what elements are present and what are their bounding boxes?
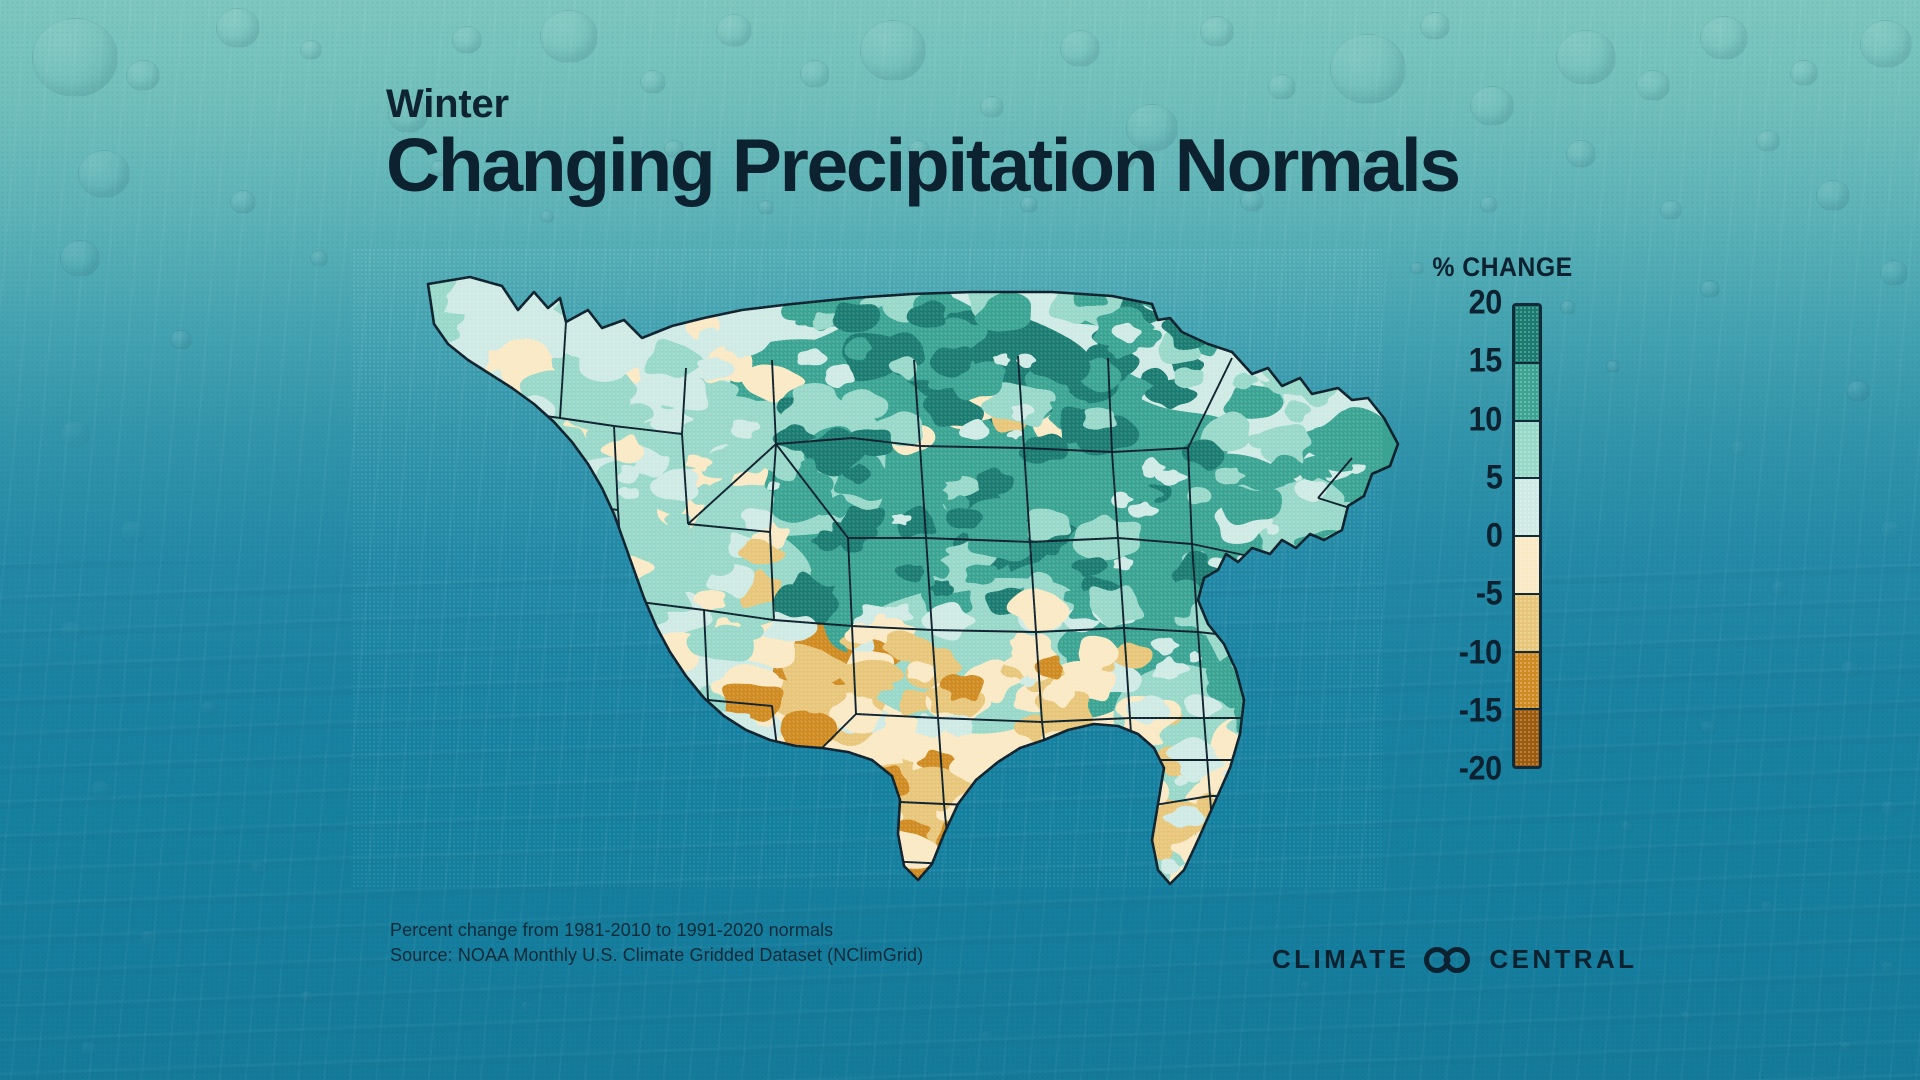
map-value-region: [599, 663, 666, 708]
map-value-region: [625, 705, 682, 741]
legend-tick-20: 20: [1469, 284, 1502, 323]
map-value-region: [429, 397, 478, 427]
map-value-region: [819, 858, 834, 869]
map-value-region: [619, 817, 640, 831]
legend-band-6: [1515, 651, 1539, 709]
map-value-region: [478, 744, 543, 790]
map-value-region: [419, 603, 461, 629]
map-value-region: [1349, 558, 1377, 575]
legend-band-4: [1515, 535, 1539, 593]
map-value-region: [473, 443, 516, 473]
map-value-region: [1287, 795, 1350, 830]
map-value-region: [1326, 668, 1353, 692]
state-border-segment-49: [1264, 796, 1270, 876]
map-value-region: [705, 795, 745, 825]
map-value-region: [516, 471, 569, 512]
map-value-region: [642, 764, 701, 803]
legend-tick-labels: 20151050-5-10-15-20: [1402, 303, 1502, 769]
map-value-region: [508, 735, 555, 774]
map-value-region: [1083, 794, 1117, 816]
map-value-region: [1296, 579, 1353, 618]
map-value-region: [1260, 272, 1314, 304]
map-value-region: [1307, 632, 1337, 655]
map-value-region: [400, 777, 438, 803]
infographic-canvas: Winter Changing Precipitation Normals: [0, 0, 1920, 1080]
map-value-region: [437, 656, 477, 682]
map-value-region: [464, 681, 491, 701]
map-value-region: [721, 279, 750, 298]
map-value-region: [521, 490, 535, 501]
map-value-region: [1284, 826, 1325, 862]
map-value-region: [1313, 550, 1362, 594]
map-value-region: [1347, 526, 1383, 550]
map-value-region: [519, 734, 555, 756]
state-border-segment-41: [1258, 558, 1374, 648]
map-value-region: [1068, 820, 1094, 840]
map-value-region: [805, 770, 841, 790]
map-value-region: [1225, 277, 1276, 311]
map-value-region: [390, 560, 455, 597]
map-value-region: [1196, 826, 1249, 863]
map-value-region: [826, 786, 878, 827]
map-value-region: [619, 831, 654, 855]
map-value-region: [653, 825, 667, 834]
map-value-region: [415, 670, 471, 713]
map-value-region: [405, 591, 570, 717]
map-value-region: [407, 620, 437, 639]
map-value-region: [513, 818, 542, 840]
map-value-region: [1338, 548, 1388, 588]
map-value-region: [537, 679, 564, 699]
map-value-region: [422, 583, 482, 624]
map-value-region: [641, 832, 698, 869]
map-value-region: [827, 843, 891, 886]
map-value-region: [1261, 318, 1316, 350]
map-value-region: [608, 620, 650, 646]
map-value-region: [1218, 841, 1236, 853]
map-value-region: [570, 581, 631, 628]
map-value-region: [1349, 830, 1367, 844]
map-value-region: [419, 767, 465, 805]
map-value-region: [445, 406, 497, 437]
state-border-segment-62: [788, 800, 862, 860]
map-value-region: [745, 826, 805, 873]
map-svg: [352, 248, 1382, 888]
map-value-region: [620, 872, 633, 881]
map-value-region: [763, 801, 796, 830]
legend-band-0: [1515, 306, 1539, 362]
legend-tick-5: 5: [1485, 458, 1502, 497]
map-value-region: [683, 782, 722, 807]
map-value-region: [1223, 864, 1260, 888]
map-value-region: [576, 845, 623, 872]
state-border-segment-61: [712, 788, 788, 848]
map-value-region: [557, 535, 583, 551]
map-value-region: [654, 844, 716, 883]
map-value-region: [1357, 512, 1386, 533]
map-value-region: [533, 501, 571, 524]
map-value-region: [1244, 683, 1319, 727]
map-value-region: [841, 830, 866, 851]
map-value-region: [492, 656, 519, 674]
legend-band-7: [1515, 708, 1539, 766]
map-value-region: [367, 410, 556, 538]
map-value-region: [572, 700, 631, 735]
map-value-region: [451, 785, 477, 803]
map-value-region: [468, 581, 632, 671]
map-value-region: [1314, 699, 1345, 721]
map-value-region: [1000, 760, 1035, 787]
map-value-region: [599, 637, 627, 657]
map-value-region: [835, 826, 891, 870]
map-value-region: [531, 558, 590, 596]
map-value-region: [1260, 573, 1309, 606]
map-value-region: [447, 688, 479, 717]
legend-color-bar[interactable]: [1512, 303, 1542, 769]
map-value-region: [510, 840, 549, 866]
map-value-region: [1324, 542, 1361, 566]
map-value-region: [1259, 346, 1290, 367]
legend: % CHANGE 20151050-5-10-15-20: [1400, 252, 1580, 769]
map-value-region: [1234, 627, 1259, 646]
legend-tick-0: 0: [1485, 517, 1502, 556]
state-border-segment-40: [1258, 638, 1362, 722]
map-value-region: [1202, 831, 1233, 849]
map-value-region: [714, 746, 759, 784]
map-value-region: [1332, 741, 1362, 765]
us-precipitation-choropleth-map[interactable]: [352, 248, 1382, 888]
map-value-region: [560, 600, 622, 644]
map-value-region: [1253, 568, 1300, 601]
map-value-region: [487, 449, 520, 472]
map-value-region: [490, 491, 523, 512]
map-value-region: [1242, 571, 1272, 590]
state-border-segment-20: [944, 804, 1052, 808]
map-value-region: [1275, 639, 1303, 662]
legend-tick-10: 10: [1469, 400, 1502, 439]
map-value-region: [1242, 623, 1286, 650]
map-value-region: [1011, 788, 1071, 828]
map-value-region: [1258, 664, 1310, 697]
map-value-region: [429, 532, 475, 565]
legend-title: % CHANGE: [1414, 252, 1580, 283]
map-value-region: [599, 837, 619, 849]
map-value-region: [1277, 768, 1341, 803]
map-value-region: [690, 817, 728, 842]
map-value-region: [1217, 310, 1231, 321]
map-value-region: [1326, 797, 1371, 828]
map-value-region: [652, 703, 706, 735]
map-value-region: [598, 820, 616, 834]
map-value-region: [726, 828, 738, 835]
state-border-segment-52: [1052, 808, 1058, 876]
state-border-segment-50: [1136, 808, 1142, 878]
legend-band-5: [1515, 593, 1539, 651]
map-value-region: [1253, 312, 1305, 343]
map-value-region: [493, 605, 552, 649]
map-value-region: [421, 456, 462, 485]
map-value-region: [865, 854, 907, 879]
logo-word-climate: CLIMATE: [1272, 944, 1409, 975]
map-value-region: [671, 862, 713, 888]
state-border-segment-38: [1258, 678, 1312, 722]
map-value-region: [592, 654, 620, 670]
map-value-region: [570, 851, 596, 867]
map-value-region: [407, 865, 453, 890]
map-value-region: [1258, 650, 1301, 680]
map-value-region: [418, 608, 461, 636]
map-value-region: [410, 567, 460, 597]
map-value-region: [409, 827, 475, 866]
legend-tick-minus10: -10: [1459, 633, 1502, 672]
climate-central-logo[interactable]: CLIMATE CENTRAL: [1272, 944, 1637, 975]
map-value-region: [1249, 839, 1298, 878]
map-value-region: [471, 825, 510, 855]
map-value-region: [707, 783, 779, 830]
map-value-region: [945, 838, 975, 857]
state-border-segment-58: [522, 588, 564, 718]
map-value-region: [834, 820, 860, 837]
map-value-region: [1302, 537, 1350, 574]
map-value-region: [536, 703, 690, 795]
map-value-region: [532, 551, 572, 576]
legend-band-3: [1515, 477, 1539, 535]
map-value-region: [1258, 570, 1310, 599]
map-value-region: [447, 441, 487, 470]
map-value-region: [404, 556, 459, 589]
map-value-region: [513, 847, 555, 877]
map-value-region: [446, 389, 507, 427]
map-value-region: [681, 288, 699, 301]
map-value-region: [466, 575, 542, 622]
map-value-region: [463, 856, 515, 888]
map-value-region: [507, 452, 543, 470]
map-value-region: [1284, 805, 1334, 838]
map-value-region: [421, 604, 461, 640]
map-value-region: [1300, 718, 1347, 748]
map-value-region: [785, 794, 820, 816]
map-value-region: [560, 542, 601, 578]
map-value-region: [452, 476, 482, 499]
map-value-region: [1011, 749, 1062, 787]
map-value-region: [1269, 784, 1311, 813]
map-value-region: [1247, 679, 1271, 696]
legend-tick-15: 15: [1469, 342, 1502, 381]
map-value-region: [1043, 835, 1097, 882]
map-value-region: [426, 502, 479, 531]
map-value-region: [1281, 590, 1303, 608]
legend-tick-minus20: -20: [1459, 750, 1502, 789]
map-value-region: [1271, 288, 1312, 317]
map-value-region: [1259, 593, 1302, 619]
map-value-region: [765, 799, 793, 817]
map-value-region: [1295, 836, 1330, 864]
map-value-region: [1345, 696, 1378, 718]
map-value-region: [630, 294, 681, 327]
map-value-region: [494, 764, 511, 775]
map-value-region: [476, 497, 626, 605]
map-value-region: [1266, 301, 1293, 319]
map-value-region: [1276, 605, 1291, 614]
map-value-region: [1242, 299, 1265, 314]
state-border-segment-59: [564, 678, 608, 684]
map-value-region: [508, 778, 554, 812]
map-value-region: [1234, 765, 1296, 809]
interlocking-rings-icon: [1423, 946, 1475, 974]
map-value-region: [502, 689, 549, 721]
map-value-region: [546, 671, 590, 697]
map-value-region: [1082, 800, 1119, 825]
state-border-segment-46: [1264, 796, 1318, 868]
map-value-region: [423, 640, 454, 661]
logo-word-central: CENTRAL: [1489, 944, 1637, 975]
map-value-region: [1331, 292, 1368, 320]
map-value-region: [447, 662, 510, 708]
map-value-region: [1320, 683, 1379, 724]
map-value-region: [753, 775, 787, 801]
map-value-region: [527, 478, 567, 511]
map-value-region: [598, 585, 624, 601]
state-border-segment-60: [708, 784, 782, 788]
map-value-region: [1339, 547, 1368, 567]
map-value-region: [1291, 818, 1352, 856]
map-value-region: [418, 612, 469, 638]
map-value-region: [1300, 663, 1332, 683]
map-value-region: [449, 595, 512, 639]
map-value-region: [1225, 319, 1254, 338]
map-value-region: [717, 779, 772, 819]
map-value-region: [1301, 843, 1347, 875]
map-value-region: [487, 660, 540, 700]
map-value-region: [468, 474, 525, 517]
map-value-region: [703, 795, 736, 814]
map-value-region: [1321, 765, 1347, 781]
map-value-region: [531, 446, 560, 464]
map-value-region: [1070, 799, 1129, 839]
state-border-segment-5: [502, 500, 556, 604]
map-value-region: [450, 555, 474, 572]
source-note-line-1: Percent change from 1981-2010 to 1991-20…: [390, 918, 923, 943]
map-value-region: [475, 417, 502, 436]
map-value-region: [857, 795, 903, 822]
map-value-region: [1254, 700, 1286, 716]
map-value-region: [1295, 627, 1356, 664]
state-border-segment-56: [474, 604, 502, 652]
map-value-region: [812, 827, 868, 862]
map-value-region: [951, 812, 1012, 850]
map-value-region: [984, 769, 1018, 791]
map-value-region: [1293, 583, 1335, 613]
map-value-region: [409, 372, 470, 414]
map-value-region: [496, 561, 520, 577]
map-value-region: [606, 634, 654, 662]
map-value-region: [445, 701, 478, 721]
map-value-region: [435, 464, 468, 489]
legend-tick-minus15: -15: [1459, 691, 1502, 730]
legend-band-1: [1515, 362, 1539, 420]
source-note: Percent change from 1981-2010 to 1991-20…: [390, 918, 923, 968]
map-value-region: [1116, 759, 1144, 778]
state-border-segment-47: [1308, 718, 1364, 800]
map-value-region: [434, 519, 466, 538]
map-value-region: [583, 717, 646, 751]
map-value-region: [1235, 852, 1277, 878]
map-value-region: [991, 778, 1056, 821]
map-value-region: [1339, 559, 1387, 592]
map-value-region: [504, 543, 540, 563]
map-value-region: [1341, 296, 1370, 317]
map-value-region: [575, 865, 611, 889]
map-value-region: [500, 475, 553, 506]
map-value-region: [414, 572, 451, 595]
map-value-region: [1229, 610, 1272, 638]
map-value-region: [1205, 282, 1255, 324]
map-value-region: [570, 786, 627, 822]
map-value-region: [540, 678, 600, 716]
map-value-region: [1232, 306, 1252, 318]
map-value-region: [1327, 739, 1354, 756]
map-value-region: [427, 526, 472, 564]
map-value-region: [1231, 308, 1263, 331]
map-value-region: [770, 804, 833, 846]
map-value-region: [815, 286, 839, 300]
map-value-region: [477, 676, 501, 695]
map-value-region: [1281, 819, 1344, 858]
map-value-region: [534, 586, 565, 601]
map-value-region: [393, 660, 551, 767]
map-value-region: [512, 530, 539, 546]
map-value-region: [564, 651, 627, 695]
legend-band-2: [1515, 420, 1539, 478]
source-note-line-2: Source: NOAA Monthly U.S. Climate Gridde…: [390, 943, 923, 968]
map-value-region: [1170, 289, 1243, 333]
map-value-region: [414, 560, 475, 601]
map-value-region: [509, 726, 564, 764]
title-block: Winter Changing Precipitation Normals: [386, 84, 1459, 204]
map-value-region: [622, 761, 686, 802]
map-value-region: [1050, 805, 1110, 845]
map-value-region: [1275, 729, 1314, 751]
state-border-segment-48: [1358, 796, 1364, 848]
map-value-region: [408, 429, 437, 448]
map-value-region: [455, 603, 508, 642]
page-title: Changing Precipitation Normals: [386, 127, 1459, 204]
state-border-segment-6: [556, 510, 624, 600]
map-value-region: [479, 774, 503, 791]
map-value-region: [1279, 769, 1323, 799]
map-value-region: [458, 485, 532, 533]
map-value-region: [1288, 579, 1355, 612]
map-value-region: [1061, 803, 1089, 822]
map-value-region: [397, 721, 452, 752]
map-value-region: [702, 813, 768, 853]
map-value-region: [1222, 599, 1258, 622]
map-value-region: [569, 744, 631, 781]
map-value-region: [542, 474, 604, 516]
map-value-region: [578, 745, 627, 788]
map-value-region: [394, 511, 588, 614]
map-value-region: [688, 823, 742, 861]
map-value-region: [399, 523, 432, 549]
map-value-region: [1285, 604, 1346, 651]
map-value-region: [1267, 844, 1321, 886]
map-value-region: [638, 716, 668, 737]
map-value-region: [1281, 823, 1330, 858]
map-value-region: [452, 784, 478, 803]
map-value-region: [1256, 550, 1320, 581]
map-value-region: [1306, 746, 1335, 764]
map-value-region: [650, 298, 669, 316]
